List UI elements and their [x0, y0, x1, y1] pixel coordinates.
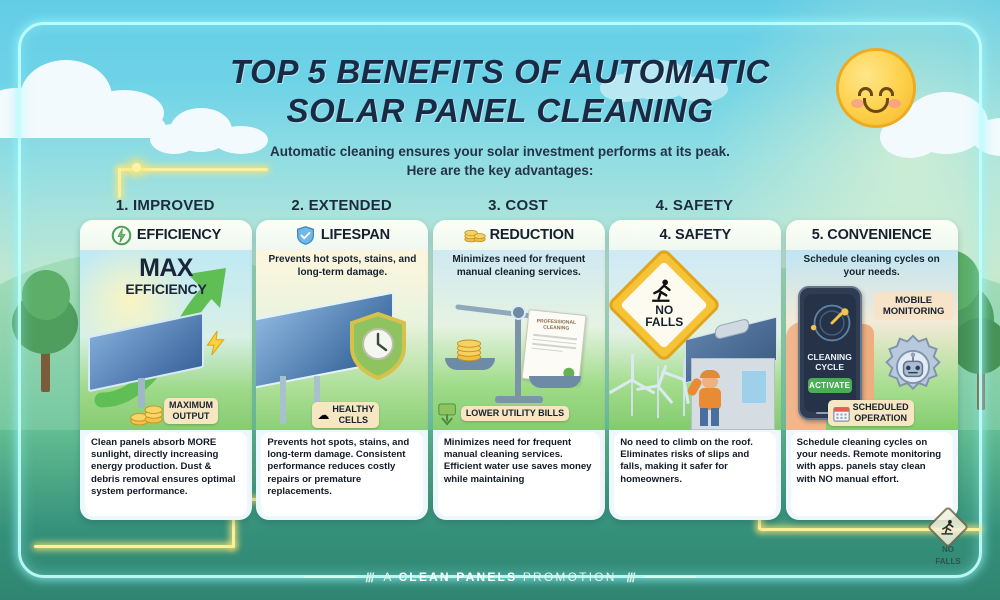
- benefit-column-4: 4. SAFETY 4. SAFETY: [609, 196, 779, 542]
- page-title: TOP 5 BENEFITS OF AUTOMATIC SOLAR PANEL …: [0, 52, 1000, 130]
- scale-column: [515, 312, 521, 398]
- maximum-output-badge: MAXIMUM OUTPUT: [164, 398, 218, 424]
- badge-line-1: SCHEDULED: [853, 402, 909, 413]
- cells-icon: ☁: [317, 408, 329, 422]
- benefit-card-3[interactable]: REDUCTION Minimizes need for frequent ma…: [433, 220, 605, 520]
- card-illustration-1: MAX EFFICIENCY: [80, 250, 252, 430]
- column-title-1: 1. IMPROVED: [80, 196, 250, 222]
- badge-line-1: HEALTHY: [332, 404, 374, 415]
- card-illustration-caption-2: Prevents hot spots, stains, and long-ter…: [262, 254, 422, 279]
- person-figure: [695, 368, 725, 426]
- professional-cleaning-invoice: PROFESSIONAL CLEANING: [521, 309, 586, 385]
- slip-and-fall-icon: [650, 278, 676, 304]
- card-body-text-1: Clean panels absorb MORE sunlight, direc…: [85, 432, 247, 516]
- card-header-label-1: EFFICIENCY: [137, 227, 221, 243]
- footer-text-pre: A: [383, 570, 398, 584]
- footer-dash-right: [644, 576, 696, 578]
- pill-line-2: MONITORING: [876, 306, 952, 317]
- lower-utility-bills-badge: LOWER UTILITY BILLS: [461, 406, 569, 421]
- scheduled-operation-badge: SCHEDULED OPERATION: [828, 400, 914, 426]
- benefit-column-3: 3. COST REDUCTION Minim: [433, 196, 603, 542]
- cleaning-dial-icon: [804, 300, 860, 346]
- badge-line-1: LOWER UTILITY BILLS: [466, 408, 564, 419]
- benefit-cards-row: 1. IMPROVED EFFICIENCY MAX EFFIC: [80, 196, 956, 542]
- calendar-icon: [833, 405, 850, 422]
- subtitle-line-2: Here are the key advantages:: [0, 161, 1000, 180]
- benefit-card-1[interactable]: EFFICIENCY MAX EFFICIENCY: [80, 220, 252, 520]
- lightning-bolt-icon: [202, 328, 228, 358]
- subtitle-line-1: Automatic cleaning ensures your solar in…: [0, 142, 1000, 161]
- lifespan-shield-clock-icon: [348, 312, 408, 382]
- efficiency-label: EFFICIENCY: [86, 281, 246, 298]
- title-line-1: TOP 5 BENEFITS OF AUTOMATIC: [0, 52, 1000, 91]
- scale-pan-right: [529, 376, 581, 388]
- pill-line-1: MOBILE: [876, 295, 952, 306]
- healthy-cells-badge: ☁ HEALTHY CELLS: [312, 402, 379, 428]
- max-label: MAX: [86, 256, 246, 281]
- column-title-4: 4. SAFETY: [609, 196, 779, 222]
- card-header-label-4: 4. SAFETY: [659, 227, 731, 243]
- badge-line-2: OUTPUT: [173, 411, 210, 422]
- card-header-2: LIFESPAN: [256, 220, 428, 250]
- column-title-3: 3. COST: [433, 196, 603, 222]
- sign-line-2: FALLS: [623, 316, 705, 329]
- tree-left: [8, 268, 82, 388]
- card-header-label-3: REDUCTION: [490, 227, 574, 243]
- house-window: [741, 370, 767, 404]
- footer-slashes-right: ///: [627, 570, 635, 585]
- column-title-5: [786, 196, 956, 222]
- shield-check-icon: [295, 225, 316, 246]
- card-illustration-2: Prevents hot spots, stains, and long-ter…: [256, 250, 428, 430]
- badge-line-1: MAXIMUM: [169, 400, 213, 411]
- watermark-line-2: FALLS: [925, 557, 971, 566]
- infographic-canvas: TOP 5 BENEFITS OF AUTOMATIC SOLAR PANEL …: [0, 0, 1000, 600]
- coins-icon: [128, 402, 166, 427]
- card-header-4: 4. SAFETY: [609, 220, 781, 250]
- card-header-1: EFFICIENCY: [80, 220, 252, 250]
- tree-right-2: [952, 300, 1000, 410]
- benefit-card-2[interactable]: LIFESPAN Prevents hot spots, stains, and…: [256, 220, 428, 520]
- page-subtitle: Automatic cleaning ensures your solar in…: [0, 142, 1000, 180]
- card-illustration-4: NO FALLS: [609, 250, 781, 430]
- phone-label-line-1: CLEANING: [800, 352, 860, 362]
- column-title-2: 2. EXTENDED: [256, 196, 426, 222]
- footer-credit: A CLEAN PANELS PROMOTION: [383, 570, 616, 584]
- badge-line-2: OPERATION: [853, 413, 909, 424]
- coins-stack-icon: [464, 225, 485, 246]
- activate-button[interactable]: ACTIVATE: [808, 378, 852, 393]
- card-illustration-caption-3: Minimizes need for frequent manual clean…: [439, 254, 599, 279]
- card-body-text-5: Schedule cleaning cycles on your needs. …: [791, 432, 953, 516]
- benefit-card-5[interactable]: 5. CONVENIENCE Schedule cleaning cycles …: [786, 220, 958, 520]
- footer-text-post: PROMOTION: [517, 570, 616, 584]
- activate-button-label: ACTIVATE: [809, 381, 850, 390]
- robot-gear-icon: [880, 334, 946, 400]
- slip-and-fall-icon: [940, 519, 957, 536]
- card-body-text-2: Prevents hot spots, stains, and long-ter…: [261, 432, 423, 516]
- card-body-text-3: Minimizes need for frequent manual clean…: [438, 432, 600, 516]
- no-falls-warning-sign: NO FALLS: [623, 264, 705, 346]
- card-illustration-caption-5: Schedule cleaning cycles on your needs.: [792, 254, 952, 279]
- benefit-column-2: 2. EXTENDED LIFESPAN Prevents hot spots,…: [256, 196, 426, 542]
- money-down-icon: [437, 402, 459, 426]
- footer-brand: CLEAN PANELS: [398, 570, 517, 584]
- footer-dash-left: [304, 576, 356, 578]
- invoice-label-line-2: CLEANING: [543, 325, 569, 332]
- no-falls-watermark: NO FALLS: [925, 512, 971, 566]
- benefit-card-4[interactable]: 4. SAFETY: [609, 220, 781, 520]
- card-body-text-4: No need to climb on the roof. Eliminates…: [614, 432, 776, 516]
- mobile-monitoring-pill: MOBILE MONITORING: [874, 292, 954, 320]
- badge-line-2: CELLS: [332, 415, 374, 426]
- benefit-column-5: 5. CONVENIENCE Schedule cleaning cycles …: [786, 196, 956, 542]
- card-illustration-3: Minimizes need for frequent manual clean…: [433, 250, 605, 430]
- card-header-3: REDUCTION: [433, 220, 605, 250]
- coins-icon: [451, 336, 487, 362]
- footer-slashes-left: ///: [366, 570, 374, 585]
- card-header-5: 5. CONVENIENCE: [786, 220, 958, 250]
- card-header-label-2: LIFESPAN: [321, 227, 390, 243]
- benefit-column-1: 1. IMPROVED EFFICIENCY MAX EFFIC: [80, 196, 250, 542]
- card-header-label-5: 5. CONVENIENCE: [812, 227, 932, 243]
- phone-label-line-2: CYCLE: [800, 362, 860, 372]
- efficiency-recycle-bolt-icon: [111, 225, 132, 246]
- title-line-2: SOLAR PANEL CLEANING: [0, 91, 1000, 130]
- card-illustration-5: Schedule cleaning cycles on your needs.: [786, 250, 958, 430]
- footer-bar: /// A CLEAN PANELS PROMOTION ///: [0, 560, 1000, 594]
- card-illustration-caption-1: MAX EFFICIENCY: [86, 256, 246, 298]
